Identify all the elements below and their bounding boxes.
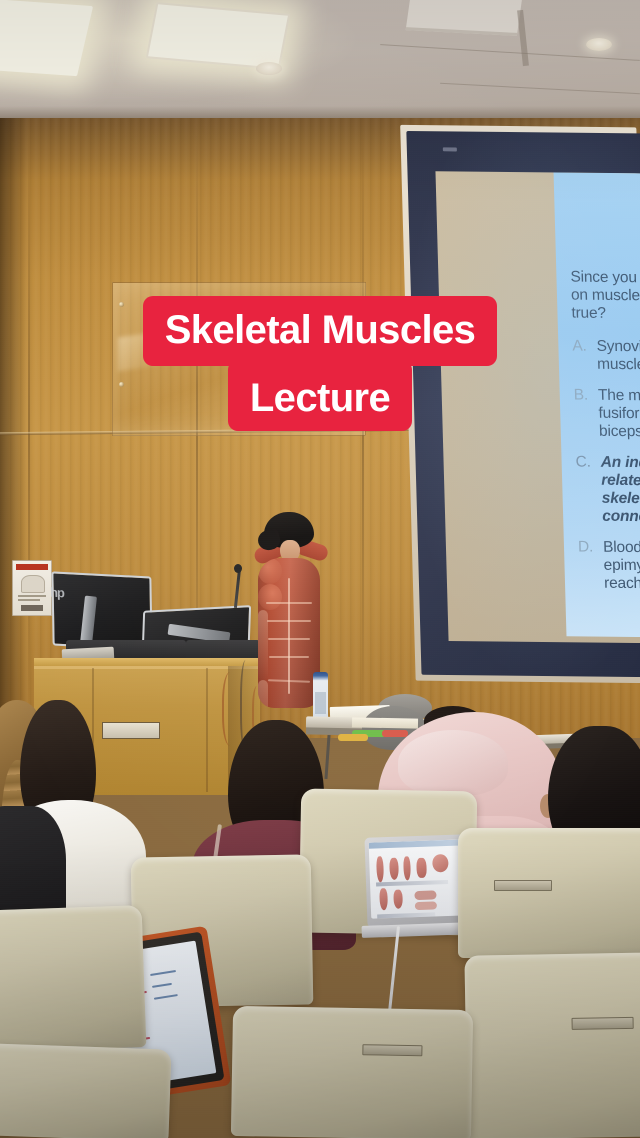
sign-text-line — [18, 599, 40, 601]
water-bottle-label — [315, 692, 326, 714]
anatomy-figure — [389, 858, 399, 880]
screen-frame: Since you have attended the lecture on m… — [406, 131, 640, 677]
note-line — [152, 983, 172, 988]
muscle-tendon-line — [267, 620, 311, 622]
laptop-screen — [369, 839, 468, 918]
option-letter: C. — [575, 453, 592, 525]
wall-panel-seam — [28, 130, 30, 730]
auditorium-chair[interactable] — [464, 952, 640, 1138]
auditorium-chair[interactable] — [0, 905, 146, 1053]
sign-header-bar — [16, 564, 48, 570]
note-line — [150, 970, 176, 976]
muscle-tendon-line — [268, 638, 310, 640]
option-letter: B. — [574, 386, 590, 440]
ceiling-downlight-2 — [586, 38, 612, 51]
slide-option-a: A. Synovial membranes surround muscles a… — [572, 337, 640, 376]
chair-seat-plate — [362, 1044, 422, 1056]
ceiling — [0, 0, 640, 132]
slide-content: Since you have attended the lecture on m… — [570, 269, 640, 608]
panel-screw — [119, 382, 124, 387]
anatomy-figure — [376, 856, 384, 882]
muscle-tendon-line — [266, 602, 312, 604]
muscle-tendon-line — [269, 656, 309, 658]
auditorium-chair[interactable] — [231, 1006, 473, 1138]
anatomy-caption-line — [376, 880, 448, 887]
chair-plate-label — [363, 1045, 421, 1046]
laptop-lid — [364, 834, 471, 928]
presenter-muscle-suit-torso — [258, 558, 320, 708]
chair-seat-plate — [494, 880, 552, 891]
muscle-oblique-right — [258, 680, 268, 708]
anatomy-figure — [379, 888, 388, 910]
slide-option-d: D. Blood vessels travel through the epim… — [578, 538, 640, 595]
muscle-pectoral-right — [258, 584, 282, 610]
muscle-midline — [288, 578, 290, 694]
hoodie-fold-highlight — [398, 730, 508, 796]
sign-illustration — [21, 575, 45, 593]
chair-seat-plate — [572, 1017, 634, 1030]
option-letter: A. — [572, 337, 587, 373]
papers-stack — [352, 717, 418, 728]
anatomy-figure — [403, 856, 411, 880]
ceiling-vent — [406, 0, 523, 36]
option-text: Synovial membranes surround muscles and … — [596, 338, 640, 376]
laptop-charging-cable — [387, 926, 400, 1022]
auditorium-chair[interactable] — [0, 1042, 172, 1138]
hp-logo-icon: hp — [50, 585, 64, 601]
panel-screw — [119, 302, 124, 307]
podium-nameplate — [102, 722, 160, 739]
option-letter: D. — [578, 538, 595, 592]
microphone-head-icon — [234, 564, 242, 573]
option-text: An individual muscle fiber is related to… — [601, 453, 640, 527]
note-line — [154, 994, 178, 1000]
table-leg — [324, 735, 330, 779]
ceiling-panel-light-2 — [146, 2, 291, 70]
slide-option-c: C. An individual muscle fiber is related… — [575, 453, 640, 528]
anatomy-caption-line — [377, 912, 435, 918]
video-frame: Since you have attended the lecture on m… — [0, 0, 640, 1138]
podium-cable — [222, 672, 242, 746]
lecture-slide: Since you have attended the lecture on m… — [554, 172, 640, 637]
anatomy-figure — [414, 890, 436, 900]
slide-question-stem: Since you have attended the lecture on m… — [570, 269, 640, 326]
option-text: The most common shape is fusiform, which… — [598, 387, 640, 443]
laptop-window-titlebar — [369, 839, 465, 848]
option-text: Blood vessels travel through the epimysi… — [603, 538, 640, 594]
podium-seam — [206, 668, 208, 792]
panel-light-glare — [118, 331, 166, 372]
screen-surface: Since you have attended the lecture on m… — [435, 171, 640, 643]
marker-pen — [338, 734, 368, 741]
slide-option-b: B. The most common shape is fusiform, wh… — [574, 386, 640, 443]
chair-plate-label — [573, 1018, 633, 1019]
student-laptop-anatomy[interactable] — [364, 834, 471, 928]
wall-left-shadow — [0, 118, 28, 738]
ceiling-downlight-1 — [256, 62, 282, 75]
wall-safety-sign — [12, 560, 52, 616]
auditorium-chair[interactable] — [458, 828, 640, 958]
screen-brand-nub — [443, 147, 457, 151]
ceiling-panel-light-1 — [0, 0, 93, 76]
anatomy-figure — [416, 858, 427, 878]
marker-pen — [382, 730, 408, 737]
podium-monitor-left — [51, 571, 152, 650]
sign-text-line — [18, 595, 46, 597]
anatomy-figure — [393, 890, 403, 909]
anatomy-figure — [415, 901, 437, 910]
sign-footer-block — [21, 605, 43, 611]
projector-screen: Since you have attended the lecture on m… — [400, 125, 640, 683]
anatomy-figure — [432, 854, 449, 873]
